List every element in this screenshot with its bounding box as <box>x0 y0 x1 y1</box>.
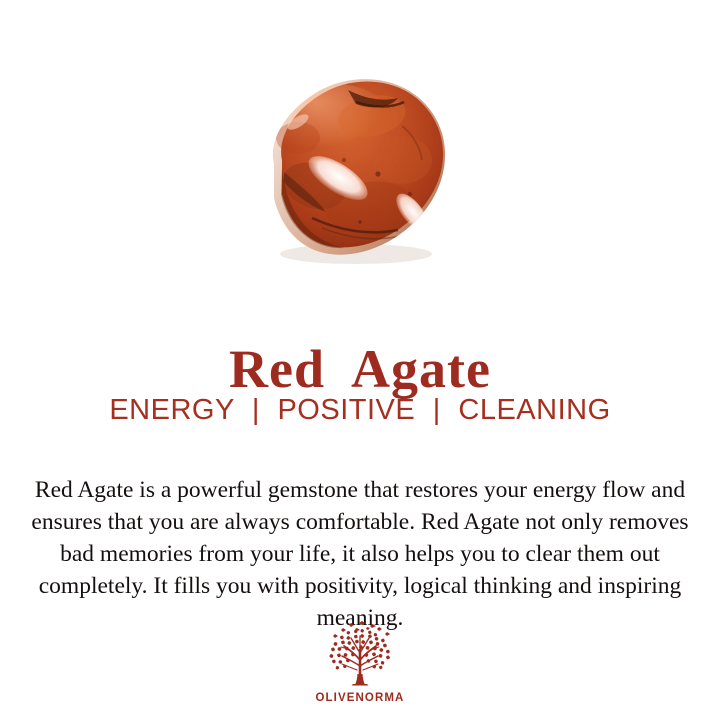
stone-speck <box>358 220 362 224</box>
keyword-list: ENERGY | POSITIVE | CLEANING <box>0 392 720 428</box>
brand-logo: OLIVENORMA <box>0 620 720 704</box>
stone-body-group <box>272 81 443 248</box>
product-info-card: Red Agate ENERGY | POSITIVE | CLEANING R… <box>0 0 720 720</box>
stone-speck <box>342 158 346 162</box>
gemstone-image <box>252 68 452 264</box>
keyword-cleaning: CLEANING <box>458 394 610 426</box>
stone-speck <box>408 192 412 196</box>
keyword-positive: POSITIVE <box>277 394 415 426</box>
product-image-area <box>0 0 720 285</box>
tree-trunk <box>355 674 364 684</box>
tree-icon <box>317 620 403 690</box>
keyword-separator-1: | <box>243 392 269 428</box>
keyword-separator-2: | <box>424 392 450 428</box>
brand-name: OLIVENORMA <box>0 692 720 704</box>
gemstone-icon <box>252 68 452 264</box>
page-title: Red Agate <box>0 339 720 399</box>
keyword-energy: ENERGY <box>109 394 234 426</box>
stone-speck <box>375 171 380 176</box>
tree-base <box>352 684 369 686</box>
product-description: Red Agate is a powerful gemstone that re… <box>16 474 704 634</box>
stone-patch <box>372 136 432 184</box>
